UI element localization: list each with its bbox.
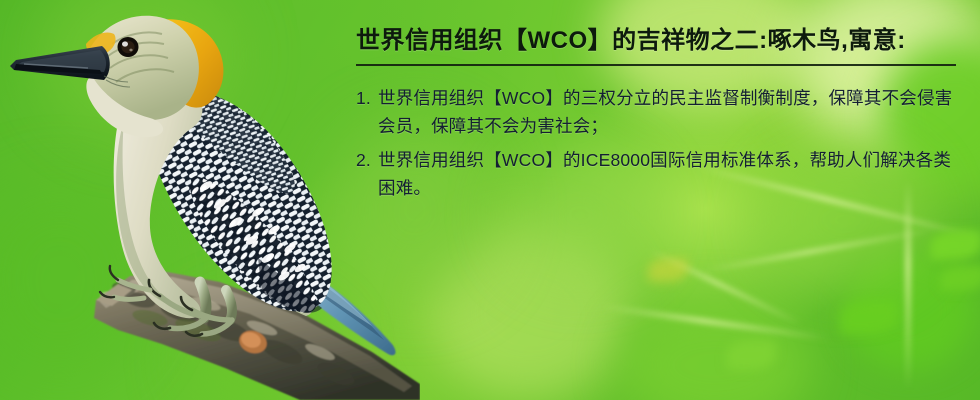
text-panel: 世界信用组织【WCO】的吉祥物之二:啄木鸟,寓意: 1. 世界信用组织【WCO】… <box>356 26 968 208</box>
list-item-number: 1. <box>356 84 371 112</box>
title-divider <box>356 64 956 66</box>
wco-mascot-banner: 世界信用组织【WCO】的吉祥物之二:啄木鸟,寓意: 1. 世界信用组织【WCO】… <box>0 0 980 400</box>
list-item-text: 世界信用组织【WCO】的ICE8000国际信用标准体系，帮助人们解决各类困难。 <box>378 150 951 198</box>
list-item: 2. 世界信用组织【WCO】的ICE8000国际信用标准体系，帮助人们解决各类困… <box>356 146 968 202</box>
list-item-text: 世界信用组织【WCO】的三权分立的民主监督制衡制度，保障其不会侵害会员，保障其不… <box>378 88 952 136</box>
mascot-meaning-list: 1. 世界信用组织【WCO】的三权分立的民主监督制衡制度，保障其不会侵害会员，保… <box>356 84 968 202</box>
list-item: 1. 世界信用组织【WCO】的三权分立的民主监督制衡制度，保障其不会侵害会员，保… <box>356 84 968 140</box>
page-title: 世界信用组织【WCO】的吉祥物之二:啄木鸟,寓意: <box>356 26 968 56</box>
list-item-number: 2. <box>356 146 371 174</box>
